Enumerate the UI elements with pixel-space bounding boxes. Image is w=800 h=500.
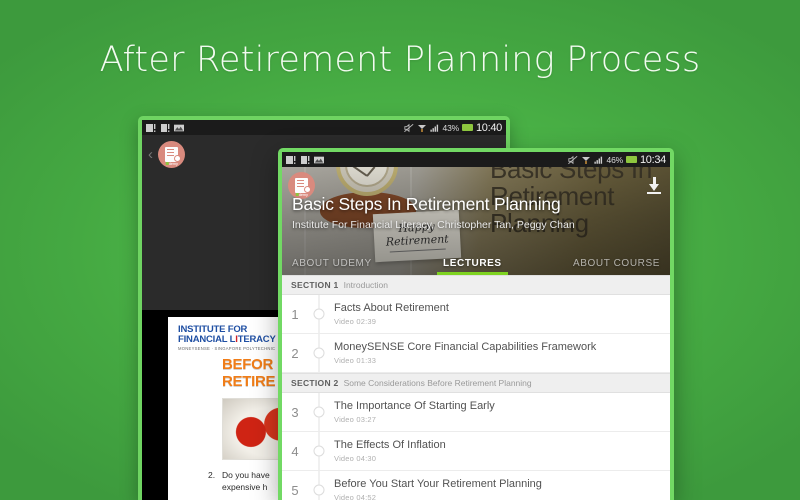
tab-about-udemy[interactable]: ABOUT UDEMY: [286, 258, 378, 275]
lecture-number: 2: [282, 346, 308, 361]
ifl-logo-line2a: FINANCIAL L: [178, 334, 235, 345]
list-item[interactable]: 2 MoneySENSE Core Financial Capabilities…: [282, 334, 670, 373]
lecture-status-circle-icon: [314, 485, 325, 496]
front-tablet-device: Basic Steps In Retirement Planning Happy…: [278, 148, 674, 500]
ifl-logo-line2c: TERACY: [238, 334, 276, 345]
front-statusbar-right-icons: 46% 10:34: [568, 154, 666, 166]
lecture-text: The Importance Of Starting Early Video 0…: [330, 400, 495, 424]
lecture-title: Before You Start Your Retirement Plannin…: [334, 478, 542, 491]
front-battery-percent: 46%: [607, 155, 623, 165]
signal-icon: [430, 123, 440, 133]
lecture-status-circle-icon: [314, 348, 325, 359]
gallery-icon: [174, 123, 184, 133]
section-title: Some Considerations Before Retirement Pl…: [344, 378, 532, 388]
course-authors: Institute For Financial Literacy, Christ…: [292, 219, 660, 231]
lecture-status-circle-icon: [314, 407, 325, 418]
back-statusbar: 43% 10:40: [142, 120, 506, 135]
course-header-text: Basic Steps In Retirement Planning Insti…: [292, 194, 660, 231]
lecture-title: MoneySENSE Core Financial Capabilities F…: [334, 341, 596, 354]
lecture-meta: Video 01:33: [334, 356, 596, 365]
pdf-item-number: 2.: [208, 469, 222, 481]
list-item[interactable]: 3 The Importance Of Starting Early Video…: [282, 393, 670, 432]
sd-card-icon: [300, 155, 310, 165]
lecture-title: The Importance Of Starting Early: [334, 400, 495, 413]
course-hero: Basic Steps In Retirement Planning Happy…: [282, 152, 670, 275]
download-icon[interactable]: [646, 176, 662, 194]
timeline-rail: [308, 393, 330, 431]
lecture-meta: Video 02:39: [334, 317, 449, 326]
back-statusbar-left-icons: [146, 123, 184, 133]
tab-about-course[interactable]: ABOUT COURSE: [567, 258, 666, 275]
timeline-rail: [308, 432, 330, 470]
timeline-rail: [308, 334, 330, 372]
section-title: Introduction: [344, 280, 388, 290]
lecture-list[interactable]: SECTION 1 Introduction 1 Facts About Ret…: [282, 275, 670, 500]
list-item[interactable]: 5 Before You Start Your Retirement Plann…: [282, 471, 670, 500]
course-title: Basic Steps In Retirement Planning: [292, 194, 660, 215]
tab-lectures[interactable]: LECTURES: [437, 258, 508, 275]
back-statusbar-right-icons: 43% 10:40: [404, 122, 502, 134]
front-statusbar-left-icons: [286, 155, 324, 165]
battery-icon: [626, 156, 637, 163]
udemy-app-icon[interactable]: demy: [158, 141, 185, 168]
udemy-wordmark: demy: [165, 161, 177, 166]
lecture-number: 5: [282, 483, 308, 498]
front-tablet-screen: Basic Steps In Retirement Planning Happy…: [282, 152, 670, 500]
battery-icon: [462, 124, 473, 131]
section-header: SECTION 2 Some Considerations Before Ret…: [282, 373, 670, 393]
mute-icon: [568, 155, 578, 165]
sd-card-icon: [160, 123, 170, 133]
lecture-title: The Effects Of Inflation: [334, 439, 446, 452]
lecture-title: Facts About Retirement: [334, 302, 449, 315]
lecture-meta: Video 04:30: [334, 454, 446, 463]
sim-icon: [146, 123, 156, 133]
list-item[interactable]: 4 The Effects Of Inflation Video 04:30: [282, 432, 670, 471]
signal-icon: [594, 155, 604, 165]
lecture-number: 1: [282, 307, 308, 322]
front-statusbar: 46% 10:34: [282, 152, 670, 167]
lecture-text: Facts About Retirement Video 02:39: [330, 302, 449, 326]
lecture-text: Before You Start Your Retirement Plannin…: [330, 478, 542, 500]
list-item[interactable]: 1 Facts About Retirement Video 02:39: [282, 295, 670, 334]
lecture-meta: Video 04:52: [334, 493, 542, 500]
lecture-text: MoneySENSE Core Financial Capabilities F…: [330, 341, 596, 365]
section-label: SECTION 1: [291, 280, 339, 290]
pdf-item-line1: Do you have: [222, 470, 270, 480]
gallery-icon: [314, 155, 324, 165]
wifi-icon: [417, 123, 427, 133]
back-arrow-icon[interactable]: ‹: [148, 146, 153, 163]
timeline-rail: [308, 471, 330, 500]
page-title: After Retirement Planning Process: [0, 40, 800, 80]
course-tabs: ABOUT UDEMY LECTURES ABOUT COURSE: [282, 249, 670, 275]
lecture-status-circle-icon: [314, 446, 325, 457]
lecture-number: 3: [282, 405, 308, 420]
sim-icon: [286, 155, 296, 165]
mute-icon: [404, 123, 414, 133]
front-clock: 10:34: [640, 154, 666, 166]
section-header: SECTION 1 Introduction: [282, 275, 670, 295]
back-battery-percent: 43%: [443, 123, 459, 133]
timeline-rail: [308, 295, 330, 333]
lecture-meta: Video 03:27: [334, 415, 495, 424]
lecture-text: The Effects Of Inflation Video 04:30: [330, 439, 446, 463]
lecture-number: 4: [282, 444, 308, 459]
back-clock: 10:40: [476, 122, 502, 134]
lecture-status-circle-icon: [314, 309, 325, 320]
section-label: SECTION 2: [291, 378, 339, 388]
wifi-icon: [581, 155, 591, 165]
